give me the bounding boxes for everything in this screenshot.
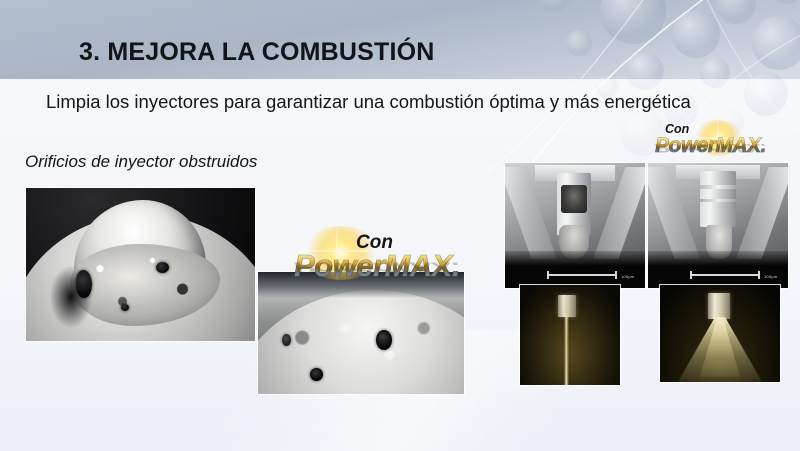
open-orifice-icon (310, 368, 323, 381)
open-orifice-icon (282, 334, 291, 346)
slide-canvas: 3. MEJORA LA COMBUSTIÓN Limpia los inyec… (0, 0, 800, 451)
cross-section-clean-injector: 100µm (648, 163, 788, 288)
logo-wordmark-reflection: PowerMAX. (294, 258, 460, 278)
cross-section-dirty-injector: 100µm (505, 163, 645, 288)
chamber-glow (520, 285, 620, 385)
spray-photo-narrow-stream (520, 285, 620, 385)
sem-floor-shadow (648, 251, 788, 289)
scale-bar-cap (547, 271, 549, 279)
sem-image-clean-tip (258, 272, 464, 394)
scale-bar-cap (615, 271, 617, 279)
carbon-deposit (561, 185, 587, 213)
scale-bar-label: 100µm (621, 274, 634, 279)
scale-bar (690, 274, 760, 276)
sem-image-clogged-tip (26, 188, 255, 341)
scale-bar (547, 274, 617, 276)
open-orifice-icon (376, 330, 392, 350)
blocked-orifice-icon (76, 270, 92, 298)
slide-subtitle: Limpia los inyectores para garantizar un… (46, 91, 691, 113)
page-title: 3. MEJORA LA COMBUSTIÓN (79, 38, 435, 67)
scale-bar-cap (758, 271, 760, 279)
spray-photo-wide-cone (660, 285, 780, 382)
powermax-logo-large: Con PowerMAX. PowerMAX. (292, 222, 492, 284)
scale-bar-cap (690, 271, 692, 279)
needle-band (700, 199, 736, 202)
blocked-orifice-icon (156, 262, 169, 273)
scale-bar-label: 100µm (764, 274, 777, 279)
surface-texture (268, 300, 458, 394)
logo-wordmark-reflection: PowerMAX. (655, 141, 766, 154)
powermax-logo-small: Con PowerMAX. PowerMAX. (655, 120, 791, 164)
sem-floor-shadow (505, 251, 645, 289)
needle-band (700, 185, 736, 189)
caption-clogged-holes: Orificios de inyector obstruidos (25, 152, 257, 172)
blocked-orifice-icon (121, 304, 129, 311)
nozzle-tip (708, 293, 730, 319)
